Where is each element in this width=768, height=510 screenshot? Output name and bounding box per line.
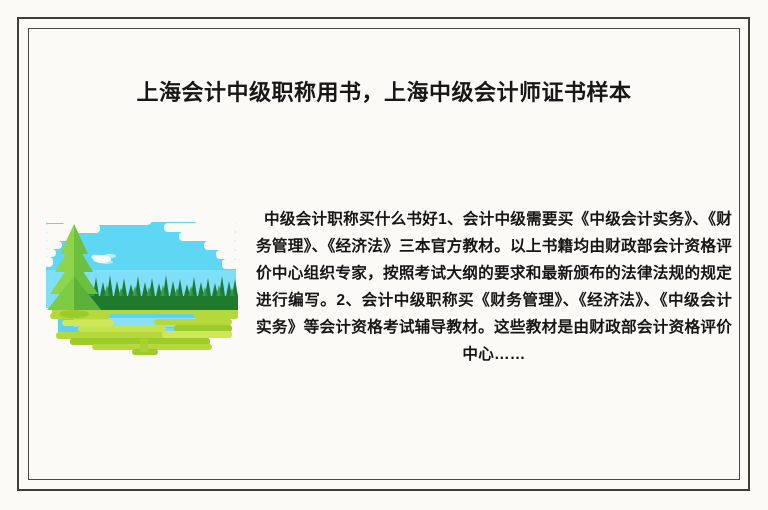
page-title: 上海会计中级职称用书，上海中级会计师证书样本 bbox=[60, 79, 708, 107]
article-card: 上海会计中级职称用书，上海中级会计师证书样本 bbox=[0, 0, 768, 510]
article-body: 中级会计职称买什么书好1、会计中级需要买《中级会计实务》、《财务管理》、《经济法… bbox=[256, 206, 732, 368]
landscape-illustration-graphic bbox=[44, 210, 238, 358]
landscape-illustration bbox=[44, 210, 238, 358]
